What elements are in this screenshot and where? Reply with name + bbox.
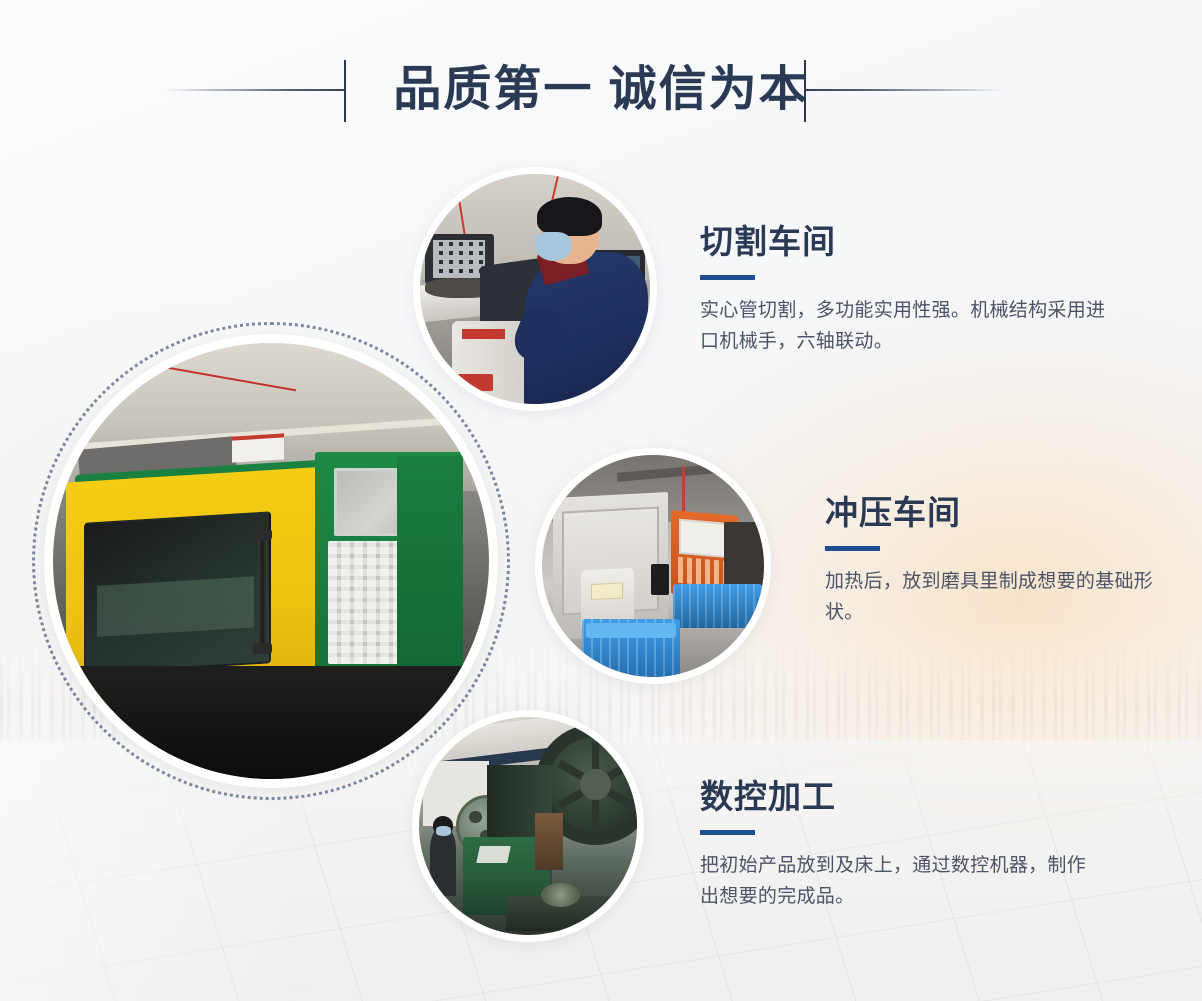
blue-crate-back xyxy=(673,584,762,628)
section-photo-cnc-machining xyxy=(412,710,644,942)
section-text-stamping: 冲压车间 加热后，放到磨具里制成想要的基础形状。 xyxy=(825,493,1185,628)
cabinet-warning-sticker xyxy=(591,582,623,600)
orange-unit-knobs xyxy=(677,557,728,587)
section-heading-stamping: 冲压车间 xyxy=(825,493,1185,533)
section-photo-cnc-machining-image xyxy=(419,717,637,935)
hero-photo-image xyxy=(53,343,489,779)
worker-hair xyxy=(537,197,601,236)
section-body-cnc-machining: 把初始产品放到及床上，通过数控机器，制作出想要的完成品。 xyxy=(700,850,1100,912)
product-feature-page: 品质第一 诚信为本 xyxy=(0,0,1202,1001)
section-body-cutting: 实心管切割，多功能实用性强。机械结构采用进口机械手，六轴联动。 xyxy=(700,295,1120,357)
section-underline-stamping xyxy=(825,546,880,551)
press-operator-mask xyxy=(436,826,451,835)
blue-crate-rim xyxy=(586,623,676,638)
title-tick-right xyxy=(804,60,806,122)
section-photo-stamping xyxy=(535,448,771,684)
press-operator xyxy=(430,830,456,895)
flywheel-hub xyxy=(580,769,611,800)
window-glass-sheen xyxy=(97,577,254,637)
injection-molding-machine-illustration xyxy=(53,343,489,779)
section-underline-cnc-machining xyxy=(700,830,755,835)
section-photo-cutting-image xyxy=(420,174,650,404)
drum-red-label xyxy=(462,329,506,339)
section-photo-stamping-image xyxy=(542,455,764,677)
title-rule-right xyxy=(805,89,1005,91)
machine-warning-label xyxy=(232,433,284,462)
machine-viewing-window xyxy=(84,512,271,676)
press-brand-logo xyxy=(476,846,510,863)
lathe-left-buttons xyxy=(433,240,485,278)
section-photo-cutting xyxy=(413,167,657,411)
section-underline-cutting xyxy=(700,275,755,280)
section-body-stamping: 加热后，放到磨具里制成想要的基础形状。 xyxy=(825,566,1185,628)
orange-unit-panel xyxy=(679,519,730,558)
drum-red-number xyxy=(449,374,493,391)
pulley-hole-1 xyxy=(469,811,481,823)
stamping-machine-illustration xyxy=(542,455,764,677)
blue-crate-front xyxy=(582,619,680,677)
press-ram xyxy=(535,813,563,870)
cabinet-black-box xyxy=(651,564,669,595)
section-text-cnc-machining: 数控加工 把初始产品放到及床上，通过数控机器，制作出想要的完成品。 xyxy=(700,777,1100,912)
section-heading-cnc-machining: 数控加工 xyxy=(700,777,1100,817)
machine-door-handle xyxy=(258,535,267,648)
section-text-cutting: 切割车间 实心管切割，多功能实用性强。机械结构采用进口机械手，六轴联动。 xyxy=(700,222,1120,357)
cnc-lathe-worker-illustration xyxy=(420,174,650,404)
section-heading-cutting: 切割车间 xyxy=(700,222,1120,262)
page-title: 品质第一 诚信为本 xyxy=(0,46,1202,134)
page-header: 品质第一 诚信为本 xyxy=(0,46,1202,136)
punch-press-illustration xyxy=(419,717,637,935)
press-die xyxy=(541,883,580,907)
